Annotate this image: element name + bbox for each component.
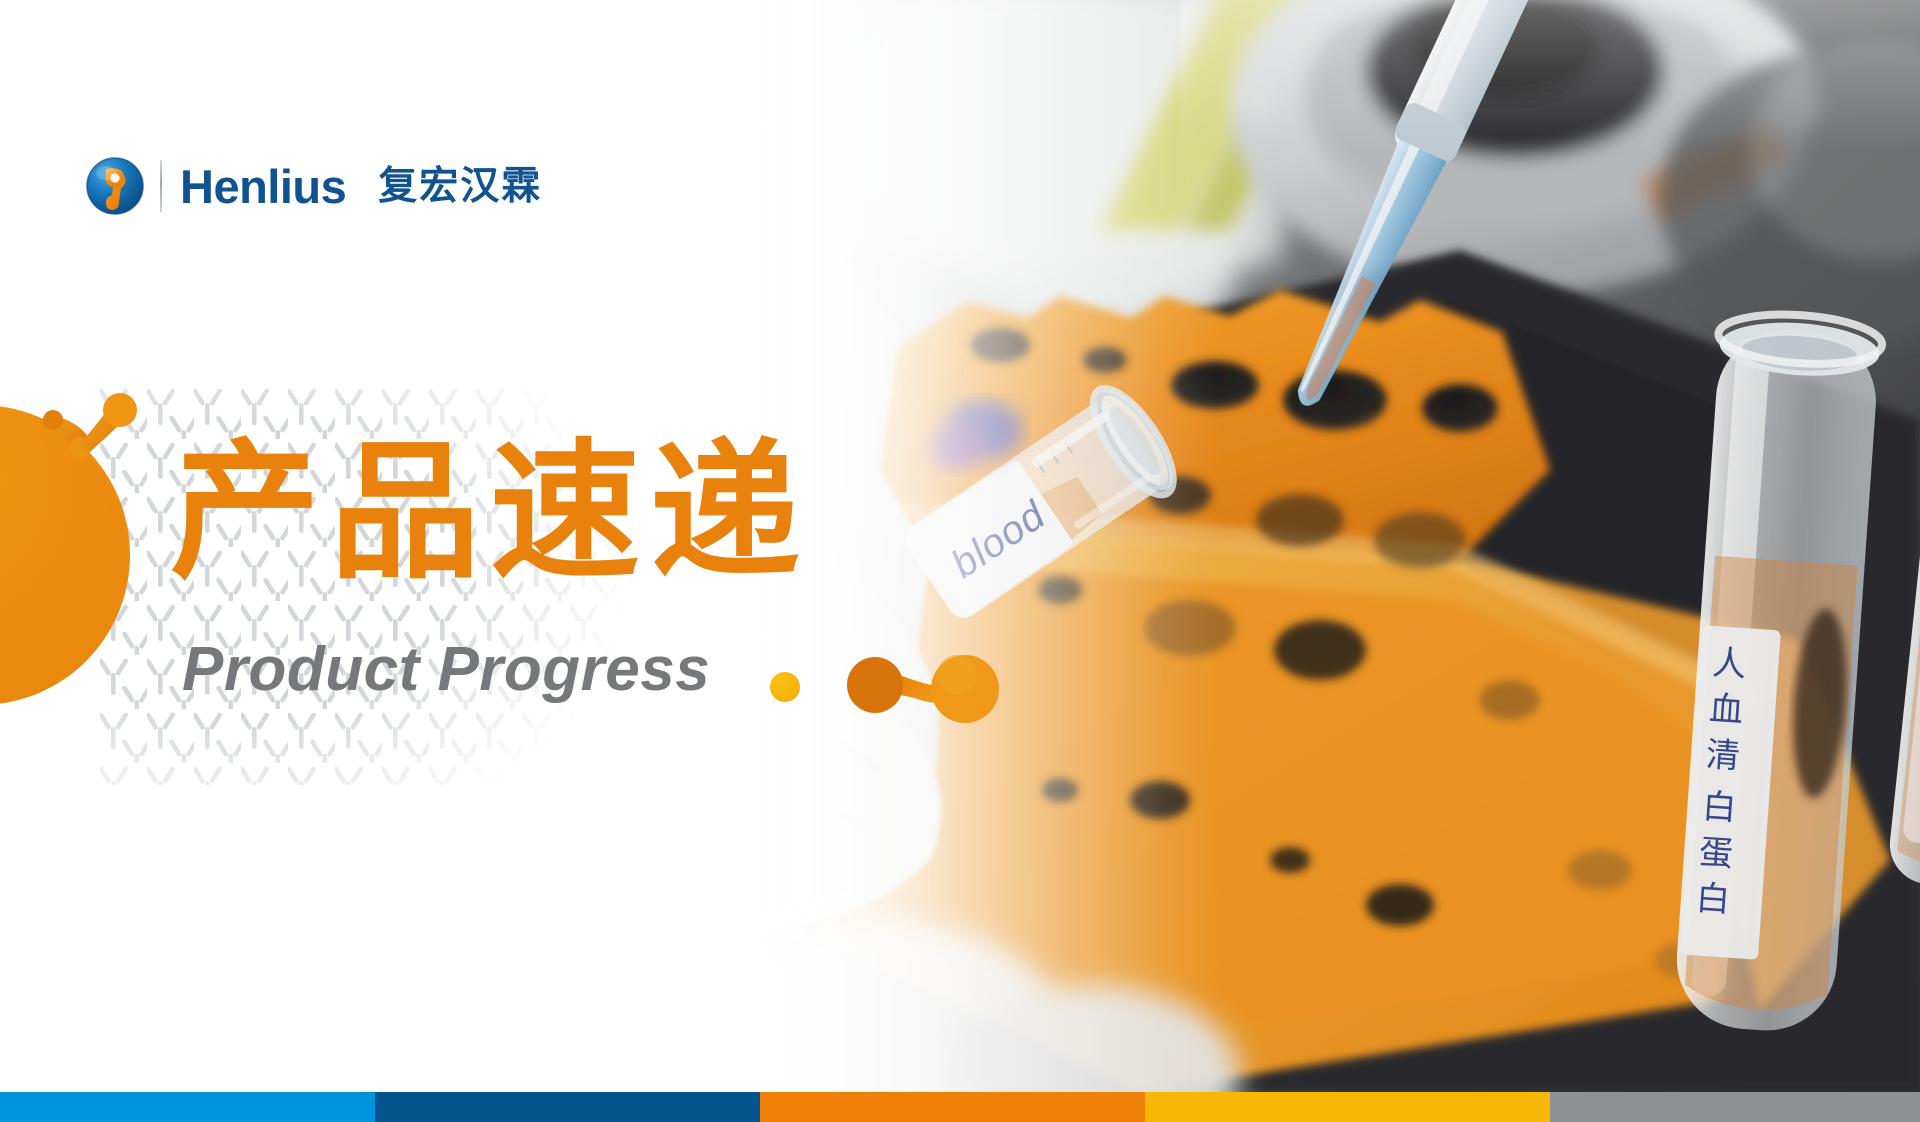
color-bar-segment-orange bbox=[760, 1092, 1145, 1122]
page-title: 产品速递 bbox=[170, 438, 810, 588]
logo-name-en: Henlius bbox=[180, 163, 346, 210]
color-bar-segment-dark-blue bbox=[375, 1092, 760, 1122]
yellow-dot-decoration bbox=[770, 672, 800, 702]
slide-canvas: blood bbox=[0, 0, 1920, 1122]
page-subtitle: Product Progress bbox=[182, 639, 710, 701]
henlius-logo-icon bbox=[86, 157, 144, 215]
color-bar-segment-yellow bbox=[1145, 1092, 1550, 1122]
logo-divider bbox=[160, 160, 162, 212]
color-bar-segment-gray bbox=[1550, 1092, 1920, 1122]
footer-color-bar bbox=[0, 1092, 1920, 1122]
laboratory-photo: blood bbox=[760, 0, 1920, 1092]
molecule-decoration-icon bbox=[28, 378, 148, 473]
logo-name-cn: 复宏汉霖 bbox=[378, 167, 542, 206]
brand-logo[interactable]: Henlius 复宏汉霖 bbox=[86, 155, 542, 217]
molecule-decoration-icon bbox=[845, 645, 1005, 730]
color-bar-segment-light-blue bbox=[0, 1092, 375, 1122]
